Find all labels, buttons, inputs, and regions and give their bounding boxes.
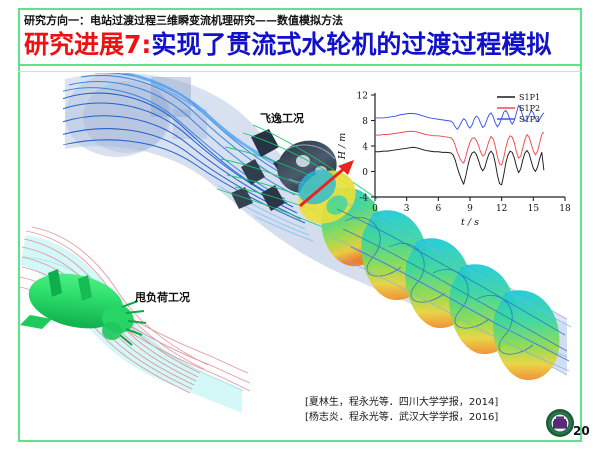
x-tick-label: 18 — [559, 204, 571, 214]
load-rejection-condition-label: 甩负荷工况 — [135, 289, 190, 305]
x-tick-label: 3 — [404, 204, 410, 214]
citation-block: [夏林生，程永光等．四川大学学报，2014] [杨志炎．程永光等．武汉大学学报，… — [305, 395, 555, 425]
page-title-rest: 实现了贯流式水轮机的过渡过程模拟 — [151, 30, 551, 59]
citation-item: [杨志炎．程永光等．武汉大学学报，2016] — [305, 410, 555, 425]
x-axis-label: t / s — [461, 217, 479, 228]
frame-border-right — [580, 8, 582, 442]
legend-label-S1P3: S1P3 — [519, 115, 540, 124]
x-tick-label: 6 — [435, 204, 441, 214]
y-axis-label: H / m — [337, 133, 348, 161]
y-tick-label: -4 — [359, 193, 368, 203]
x-tick-label: 0 — [372, 204, 378, 214]
load-rejection-inset — [20, 223, 242, 403]
chart-svg: -4048120369121518t / sH / mS1P1S1P2S1P3 — [333, 81, 579, 231]
x-tick-label: 12 — [496, 204, 507, 214]
header-separator — [18, 64, 582, 66]
legend-label-S1P2: S1P2 — [519, 104, 540, 113]
x-tick-label: 9 — [467, 204, 473, 214]
page-title-highlight: 研究进展7: — [24, 30, 151, 59]
legend-label-S1P1: S1P1 — [519, 93, 540, 102]
head-time-chart: -4048120369121518t / sH / mS1P1S1P2S1P3 — [333, 81, 579, 231]
slice-5 — [493, 290, 559, 380]
citation-item: [夏林生，程永光等．四川大学学报，2014] — [305, 395, 555, 410]
figure-canvas: 飞逸工况 甩负荷工况 -4048120369121518t / sH / mS1… — [20, 73, 580, 439]
header-separator-light — [18, 71, 582, 72]
y-tick-label: 4 — [362, 142, 368, 152]
slide-header: 研究方向一：电站过渡过程三维瞬变流机理研究——数值模拟方法 研究进展7:实现了贯… — [20, 10, 580, 64]
series-line-S1P2 — [375, 131, 544, 165]
runaway-condition-label: 飞逸工况 — [260, 110, 304, 126]
y-tick-label: 0 — [362, 168, 368, 178]
y-tick-label: 12 — [357, 91, 368, 101]
slide-root: 研究方向一：电站过渡过程三维瞬变流机理研究——数值模拟方法 研究进展7:实现了贯… — [0, 0, 600, 450]
page-number: 20 — [573, 424, 590, 438]
x-tick-label: 15 — [528, 204, 540, 214]
research-direction-subtitle: 研究方向一：电站过渡过程三维瞬变流机理研究——数值模拟方法 — [20, 10, 580, 28]
university-seal-logo — [545, 408, 575, 438]
page-title: 研究进展7:实现了贯流式水轮机的过渡过程模拟 — [20, 28, 580, 60]
y-tick-label: 8 — [362, 117, 368, 127]
frame-border-bottom — [18, 440, 582, 442]
series-line-S1P1 — [375, 147, 544, 185]
